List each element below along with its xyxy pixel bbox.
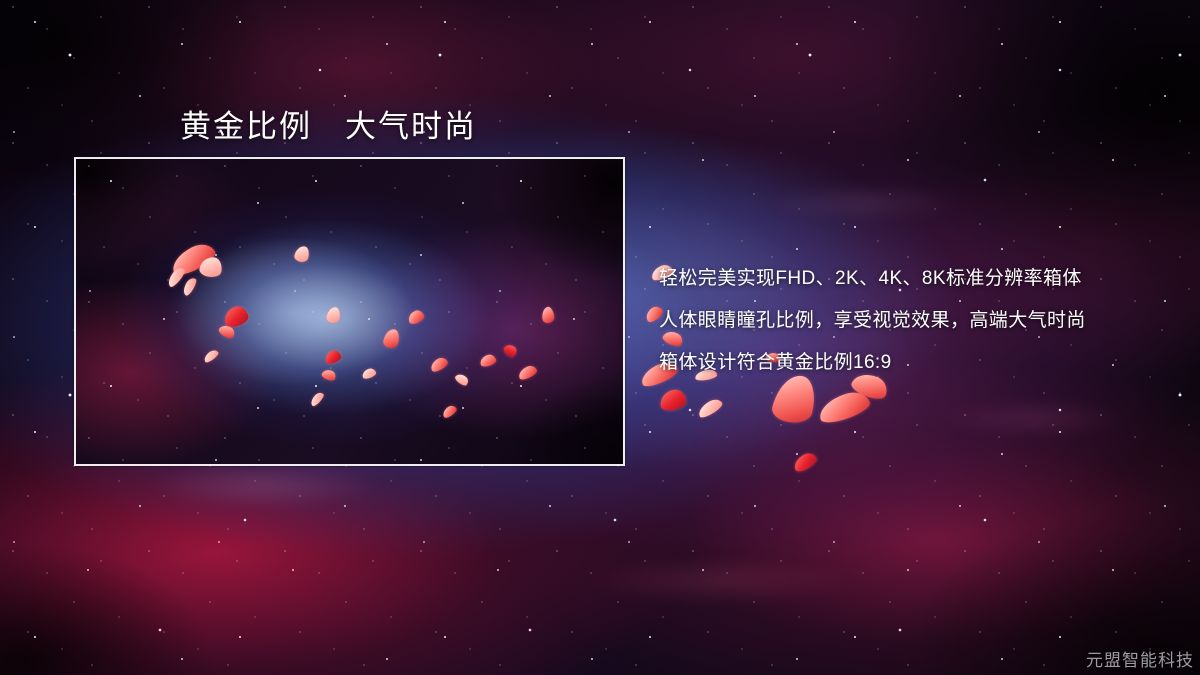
body-line-3: 箱体设计符合黄金比例16:9 — [659, 342, 1189, 384]
body-line-1: 轻松完美实现FHD、2K、4K、8K标准分辨率箱体 — [659, 258, 1189, 300]
watermark: 元盟智能科技 — [1086, 646, 1194, 671]
frame-vignette — [76, 159, 623, 464]
petal — [658, 388, 687, 412]
nebula-photo-frame — [74, 157, 625, 466]
petal — [791, 450, 819, 474]
slide-canvas: 黄金比例 大气时尚 轻松完美实现FHD、2K、4K、8K标准分辨率箱体 人体眼睛… — [0, 0, 1200, 675]
body-line-2: 人体眼睛瞳孔比例，享受视觉效果，高端大气时尚 — [659, 300, 1189, 342]
page-title: 黄金比例 大气时尚 — [180, 101, 477, 146]
petal — [696, 396, 725, 419]
body-copy: 轻松完美实现FHD、2K、4K、8K标准分辨率箱体 人体眼睛瞳孔比例，享受视觉效… — [659, 258, 1189, 384]
